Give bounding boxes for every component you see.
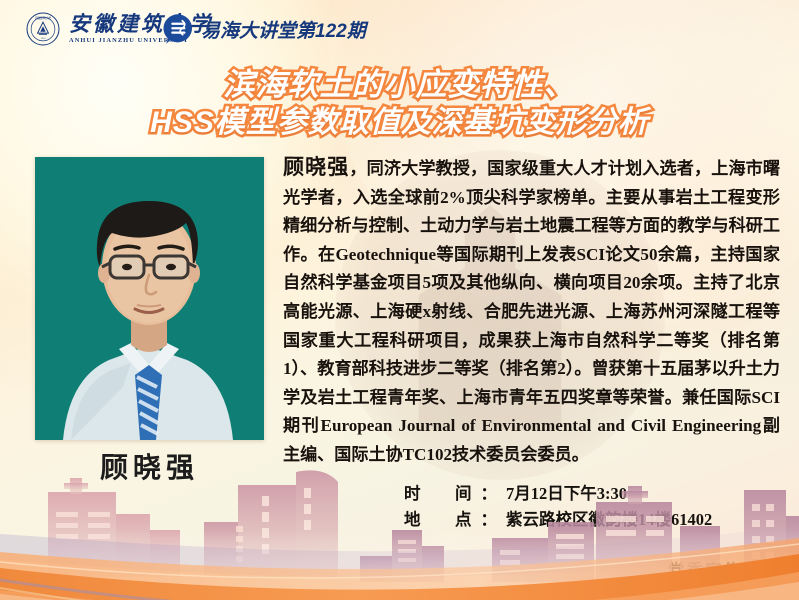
forum-series-label: 易海大讲堂第122期 (201, 16, 366, 43)
book-speech-bubble-icon (163, 13, 195, 45)
svg-text:安徽建筑大学: 安徽建筑大学 (35, 16, 52, 20)
issuing-department-label: 党委宣传部 (668, 557, 761, 581)
speaker-bio: 顾晓强，同济大学教授，国家级重大人才计划入选者，上海市曙光学者，入选全球前2%顶… (283, 153, 780, 470)
poster-title: 滨海软土的小应变特性、 HSS模型参数取值及深基坑变形分析 (0, 66, 799, 142)
bio-text: ，同济大学教授，国家级重大人才计划入选者，上海市曙光学者，入选全球前2%顶尖科学… (283, 159, 780, 464)
event-details: 时 间：7月12日下午3:30 地 点：紫云路校区徽韵楼14楼61402 (404, 481, 712, 533)
event-place-row: 地 点：紫云路校区徽韵楼14楼61402 (404, 507, 712, 533)
speaker-photo (35, 157, 264, 440)
poster-header: 安徽建筑大学 1958 安徽建筑大学 ANHUI JIANZHU UNIVERS… (0, 0, 799, 58)
forum-series-block: 易海大讲堂第122期 (163, 13, 366, 45)
university-seal-icon: 安徽建筑大学 1958 (26, 12, 60, 46)
title-line-1: 滨海软土的小应变特性、 (0, 66, 799, 104)
bio-name-lead: 顾晓强 (283, 155, 349, 179)
event-time-value: 7月12日下午3:30 (506, 484, 627, 503)
event-place-value: 紫云路校区徽韵楼14楼61402 (506, 510, 712, 529)
poster-canvas: 安徽建筑大学 1958 安徽建筑大学 ANHUI JIANZHU UNIVERS… (0, 0, 799, 600)
event-time-label: 时 间： (404, 484, 506, 503)
title-line-2: HSS模型参数取值及深基坑变形分析 (0, 104, 799, 142)
svg-text:1958: 1958 (41, 37, 47, 40)
speaker-name-label: 顾晓强 (35, 446, 264, 486)
event-place-label: 地 点： (404, 510, 506, 529)
event-time-row: 时 间：7月12日下午3:30 (404, 481, 712, 507)
